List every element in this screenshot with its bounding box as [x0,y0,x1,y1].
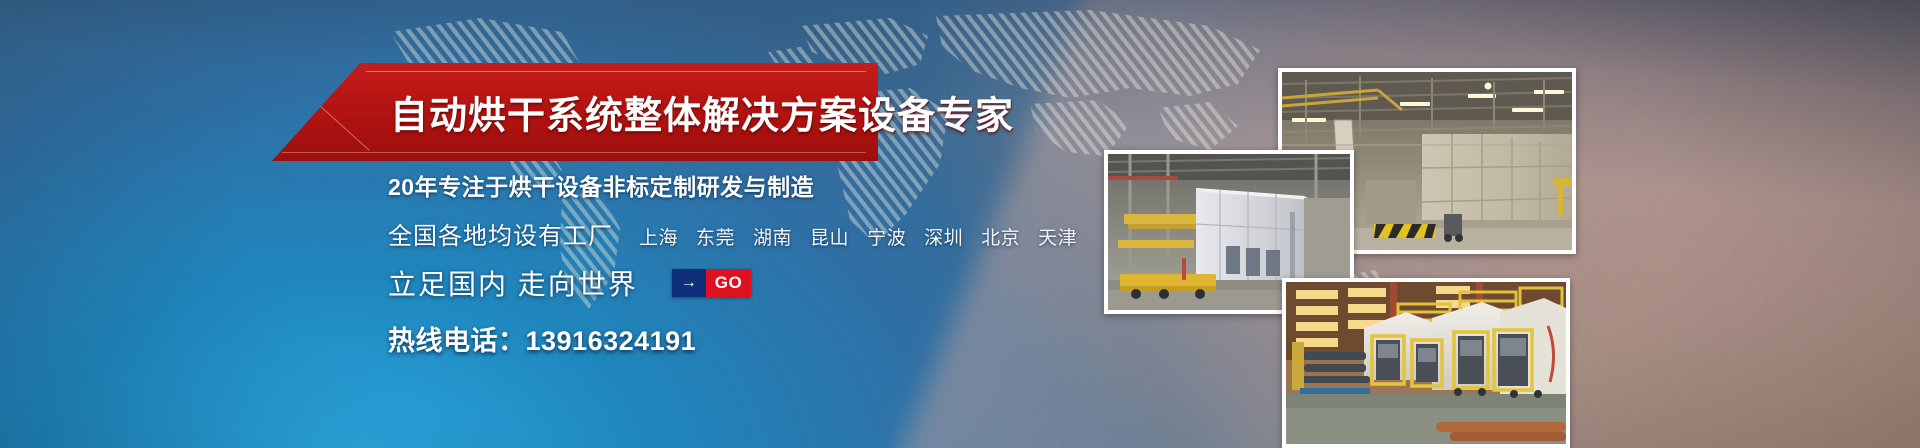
city-item-hunan: 湖南 [753,223,792,250]
factory-label: 全国各地均设有工厂 [388,216,613,251]
city-item-shenzhen: 深圳 [924,223,963,250]
arrow-right-icon: → [672,269,706,297]
go-button-label: GO [706,269,751,297]
city-item-beijing: 北京 [981,223,1020,250]
promo-banner: 自动烘干系统整体解决方案设备专家 20年专注于烘干设备非标定制研发与制造 全国各… [0,0,1920,448]
go-button[interactable]: → GO [672,269,751,297]
factory-line: 全国各地均设有工厂 上海 东莞 湖南 昆山 宁波 深圳 北京 天津 [388,216,1108,251]
city-item-dongguan: 东莞 [696,223,735,250]
photo-inner [1286,282,1566,444]
slogan-text: 立足国内 走向世界 [388,263,638,303]
city-item-tianjin: 天津 [1038,223,1077,250]
slogan-line: 立足国内 走向世界 → GO [388,263,1108,303]
hotline-text: 热线电话：13916324191 [388,319,1108,358]
copy-block: 20年专注于烘干设备非标定制研发与制造 全国各地均设有工厂 上海 东莞 湖南 昆… [388,168,1108,358]
photo-drying-equipment-production-line [1282,278,1570,448]
subheadline-text: 20年专注于烘干设备非标定制研发与制造 [388,168,1108,202]
headline-text: 自动烘干系统整体解决方案设备专家 [390,85,1014,140]
city-item-shanghai: 上海 [639,223,678,250]
city-item-ningbo: 宁波 [867,223,906,250]
city-item-kunshan: 昆山 [810,223,849,250]
city-list: 上海 东莞 湖南 昆山 宁波 深圳 北京 天津 [639,223,1077,250]
